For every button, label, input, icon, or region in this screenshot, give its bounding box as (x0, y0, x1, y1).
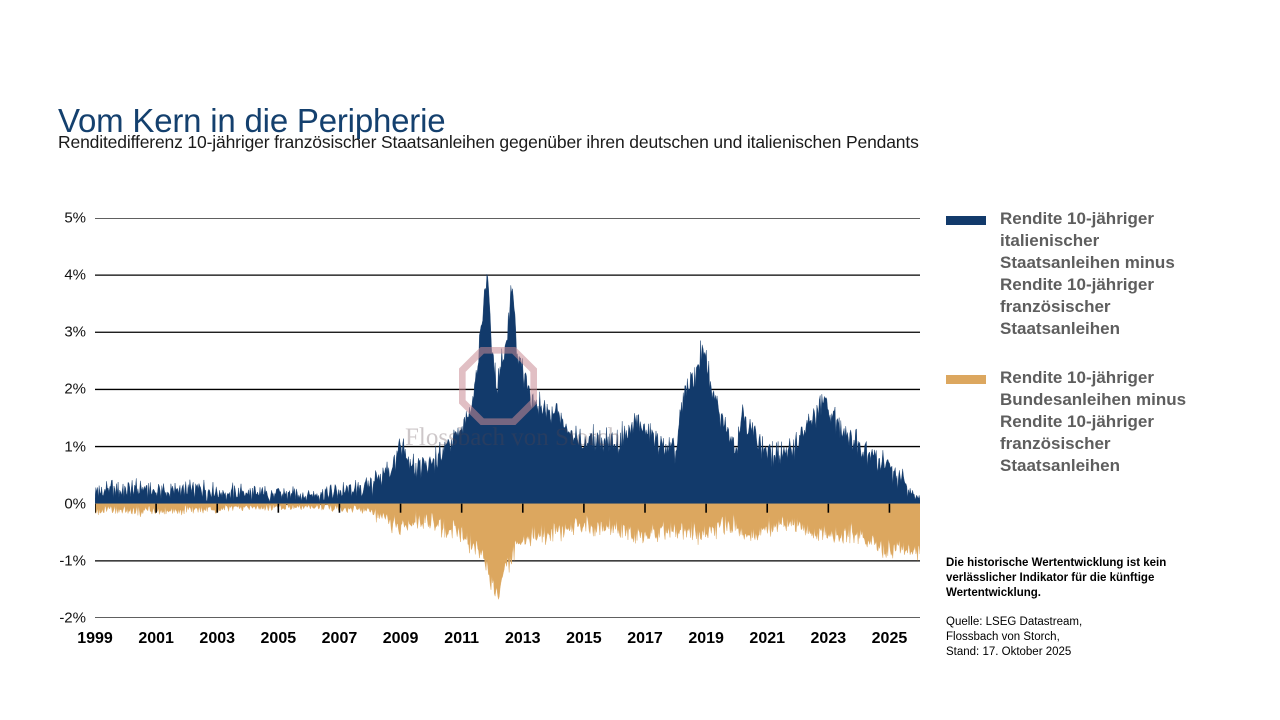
y-axis-tick-label: -1% (59, 552, 86, 569)
source-text: Quelle: LSEG Datastream,Flossbach von St… (946, 615, 1196, 661)
x-axis-tick-label: 2019 (688, 630, 724, 648)
legend-swatch-germany (946, 375, 986, 384)
x-axis-tick-label: 2003 (199, 630, 235, 648)
legend-label-italy: Rendite 10-jähriger italienischer Staats… (1000, 208, 1222, 341)
x-axis-tick-label: 2017 (627, 630, 663, 648)
page-subtitle: Renditedifferenz 10-jähriger französisch… (58, 132, 919, 153)
legend-label-germany: Rendite 10-jähriger Bundesanleihen minus… (1000, 367, 1222, 477)
y-axis-tick-label: 5% (64, 210, 86, 227)
legend-item-germany[interactable]: Rendite 10-jähriger Bundesanleihen minus… (946, 367, 1246, 477)
x-axis-tick-label: 2005 (261, 630, 297, 648)
y-axis-tick-label: 2% (64, 381, 86, 398)
chart-plot-area: 5%4%3%2%1%0%-1%-2%1999200120032005200720… (95, 218, 920, 618)
x-axis-tick-label: 2007 (322, 630, 358, 648)
x-axis-tick-label: 2021 (749, 630, 785, 648)
y-axis-tick-label: -2% (59, 610, 86, 627)
x-axis-tick-label: 2015 (566, 630, 602, 648)
legend-item-italy[interactable]: Rendite 10-jähriger italienischer Staats… (946, 208, 1246, 341)
chart-legend: Rendite 10-jähriger italienischer Staats… (946, 208, 1246, 503)
series-area-1 (95, 504, 920, 600)
chart-page: Vom Kern in die Peripherie Renditediffer… (0, 0, 1280, 720)
legend-swatch-italy (946, 216, 986, 225)
disclaimer-text: Die historische Wertentwicklung ist kein… (946, 556, 1196, 601)
x-axis-tick-label: 2023 (811, 630, 847, 648)
x-axis-tick-label: 1999 (77, 630, 113, 648)
x-axis-tick-label: 2009 (383, 630, 419, 648)
y-axis-tick-label: 3% (64, 324, 86, 341)
source-line: Flossbach von Storch, (946, 630, 1196, 645)
area-chart-svg (95, 218, 920, 618)
x-axis-tick-label: 2025 (872, 630, 908, 648)
y-axis-tick-label: 0% (64, 495, 86, 512)
y-axis-tick-label: 4% (64, 267, 86, 284)
source-line: Quelle: LSEG Datastream, (946, 615, 1196, 630)
source-line: Stand: 17. Oktober 2025 (946, 645, 1196, 660)
x-axis-tick-label: 2001 (138, 630, 174, 648)
x-axis-tick-label: 2013 (505, 630, 541, 648)
x-axis-tick-label: 2011 (444, 630, 479, 648)
y-axis-tick-label: 1% (64, 438, 86, 455)
